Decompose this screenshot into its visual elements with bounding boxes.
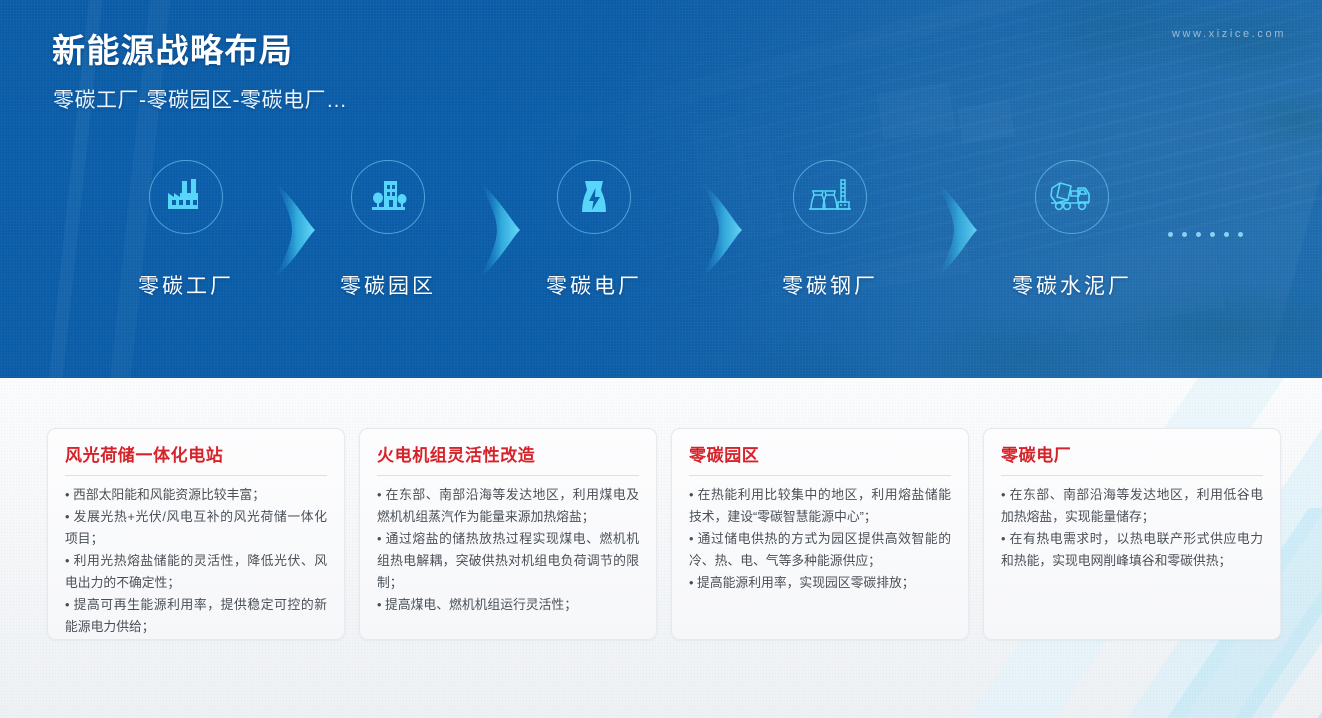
step-icon-circle-2 xyxy=(351,160,425,234)
factory-icon xyxy=(165,177,207,217)
card-bullet: • 提高煤电、燃机机组运行灵活性； xyxy=(377,594,639,616)
card-bullet: • 利用光热熔盐储能的灵活性，降低光伏、风电出力的不确定性； xyxy=(65,550,327,594)
card-title: 零碳电厂 xyxy=(1001,446,1263,466)
detail-card-list: 风光荷储一体化电站 • 西部太阳能和风能资源比较丰富； • 发展光热+光伏/风电… xyxy=(0,428,1322,640)
page-subtitle: 零碳工厂-零碳园区-零碳电厂… xyxy=(53,84,348,114)
step-zero-carbon-power-plant[interactable]: 零碳电厂 xyxy=(519,160,669,300)
step-zero-carbon-cement-plant[interactable]: 零碳水泥厂 xyxy=(997,160,1147,300)
cement-mixer-icon xyxy=(1049,178,1095,216)
trailing-dot xyxy=(1224,232,1229,237)
card-bullet: • 发展光热+光伏/风电互补的风光荷储一体化项目； xyxy=(65,506,327,550)
power-plant-icon xyxy=(574,177,614,217)
step-icon-circle-5 xyxy=(1035,160,1109,234)
office-park-icon xyxy=(367,177,409,217)
card-body: • 西部太阳能和风能资源比较丰富； • 发展光热+光伏/风电互补的风光荷储一体化… xyxy=(65,484,327,638)
detail-section: 风光荷储一体化电站 • 西部太阳能和风能资源比较丰富； • 发展光热+光伏/风电… xyxy=(0,378,1322,718)
site-watermark: www.xizice.com xyxy=(1172,28,1286,40)
detail-card[interactable]: 零碳园区 • 在热能利用比较集中的地区，利用熔盐储能技术，建设“零碳智慧能源中心… xyxy=(671,428,969,640)
card-body: • 在东部、南部沿海等发达地区，利用低谷电加热熔盐，实现能量储存； • 在有热电… xyxy=(1001,484,1263,572)
card-bullet: • 通过储电供热的方式为园区提供高效智能的冷、热、电、气等多种能源供应； xyxy=(689,528,951,572)
card-divider xyxy=(377,475,639,476)
card-title: 火电机组灵活性改造 xyxy=(377,446,639,466)
page-title: 新能源战略布局 xyxy=(52,32,294,70)
card-title: 风光荷储一体化电站 xyxy=(65,446,327,466)
step-label-2: 零碳园区 xyxy=(313,270,463,300)
card-divider xyxy=(65,475,327,476)
trailing-dot xyxy=(1238,232,1243,237)
trailing-dot xyxy=(1182,232,1187,237)
detail-card[interactable]: 零碳电厂 • 在东部、南部沿海等发达地区，利用低谷电加热熔盐，实现能量储存； •… xyxy=(983,428,1281,640)
step-label-1: 零碳工厂 xyxy=(111,270,261,300)
card-body: • 在热能利用比较集中的地区，利用熔盐储能技术，建设“零碳智慧能源中心”； • … xyxy=(689,484,951,594)
card-bullet: • 通过熔盐的储热放热过程实现煤电、燃机机组热电解耦，突破供热对机组电负荷调节的… xyxy=(377,528,639,594)
detail-card[interactable]: 风光荷储一体化电站 • 西部太阳能和风能资源比较丰富； • 发展光热+光伏/风电… xyxy=(47,428,345,640)
step-label-4: 零碳钢厂 xyxy=(755,270,905,300)
trailing-dot xyxy=(1168,232,1173,237)
step-label-3: 零碳电厂 xyxy=(519,270,669,300)
step-zero-carbon-factory[interactable]: 零碳工厂 xyxy=(111,160,261,300)
trailing-dots xyxy=(1168,232,1243,237)
trailing-dot xyxy=(1196,232,1201,237)
detail-card[interactable]: 火电机组灵活性改造 • 在东部、南部沿海等发达地区，利用煤电及燃机机组蒸汽作为能… xyxy=(359,428,657,640)
trailing-dot xyxy=(1210,232,1215,237)
step-label-5: 零碳水泥厂 xyxy=(997,270,1147,300)
card-bullet: • 在热能利用比较集中的地区，利用熔盐储能技术，建设“零碳智慧能源中心”； xyxy=(689,484,951,528)
card-bullet: • 在有热电需求时，以热电联产形式供应电力和热能，实现电网削峰填谷和零碳供热； xyxy=(1001,528,1263,572)
step-zero-carbon-park[interactable]: 零碳园区 xyxy=(313,160,463,300)
card-body: • 在东部、南部沿海等发达地区，利用煤电及燃机机组蒸汽作为能量来源加热熔盐； •… xyxy=(377,484,639,616)
card-bullet: • 提高能源利用率，实现园区零碳排放； xyxy=(689,572,951,594)
card-divider xyxy=(1001,475,1263,476)
hero-banner: 新能源战略布局 零碳工厂-零碳园区-零碳电厂… www.xizice.com xyxy=(0,0,1322,378)
card-divider xyxy=(689,475,951,476)
card-bullet: • 提高可再生能源利用率，提供稳定可控的新能源电力供给； xyxy=(65,594,327,638)
zero-carbon-step-flow: 零碳工厂 xyxy=(0,160,1322,310)
step-icon-circle-3 xyxy=(557,160,631,234)
card-title: 零碳园区 xyxy=(689,446,951,466)
step-icon-circle-1 xyxy=(149,160,223,234)
card-bullet: • 在东部、南部沿海等发达地区，利用低谷电加热熔盐，实现能量储存； xyxy=(1001,484,1263,528)
steel-plant-icon xyxy=(808,177,852,217)
step-zero-carbon-steel-plant[interactable]: 零碳钢厂 xyxy=(755,160,905,300)
slide-root: 新能源战略布局 零碳工厂-零碳园区-零碳电厂… www.xizice.com xyxy=(0,0,1322,718)
step-icon-circle-4 xyxy=(793,160,867,234)
card-bullet: • 西部太阳能和风能资源比较丰富； xyxy=(65,484,327,506)
card-bullet: • 在东部、南部沿海等发达地区，利用煤电及燃机机组蒸汽作为能量来源加热熔盐； xyxy=(377,484,639,528)
